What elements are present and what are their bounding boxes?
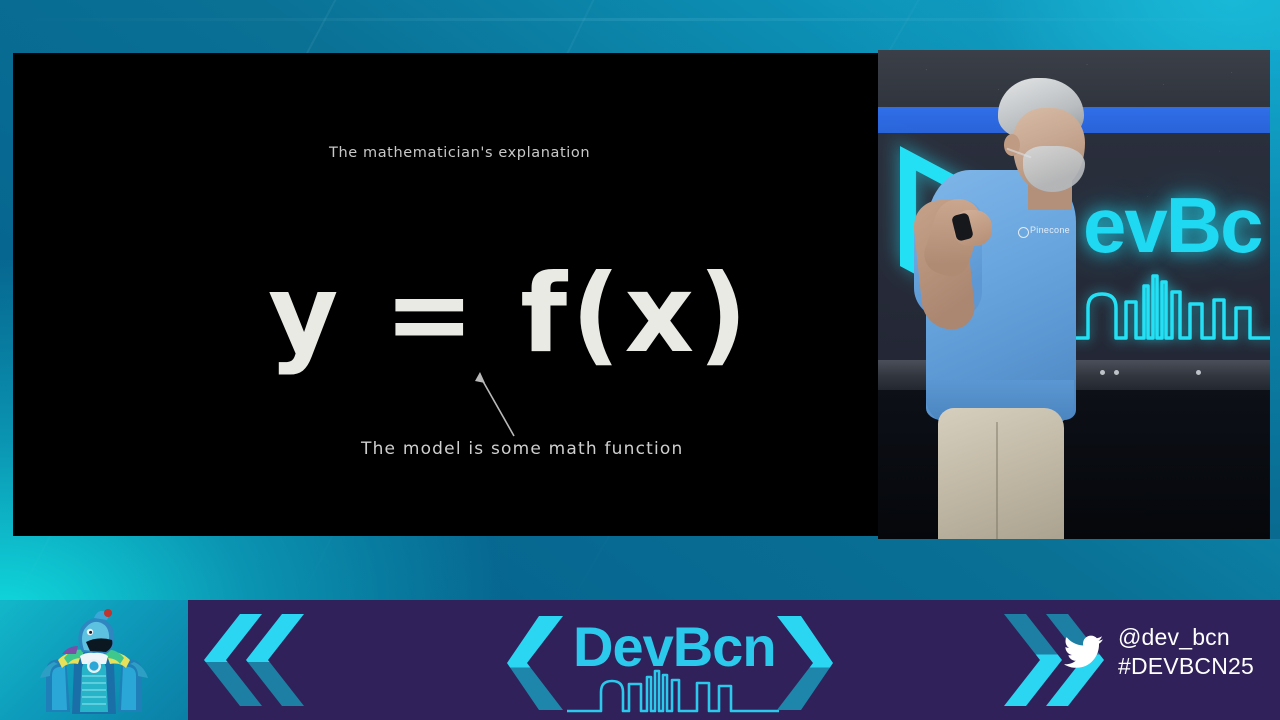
devbcn-waveform-icon	[567, 668, 779, 714]
slide-formula: y = f(x)	[268, 261, 751, 369]
presentation-screenshot: The mathematician's explanation y = f(x)…	[0, 0, 1280, 720]
rail-bolt	[1114, 370, 1119, 375]
stage-backdrop-waveform-icon	[1074, 268, 1280, 344]
shirt-brand-label: Pinecone	[1030, 225, 1070, 235]
annotation-arrow-icon	[468, 368, 528, 440]
slide-title: The mathematician's explanation	[329, 145, 590, 161]
stage-backdrop-logo-text: evBc	[1083, 180, 1261, 271]
twitter-bird-icon[interactable]	[1064, 635, 1104, 669]
devbcn-logo: DevBcn	[505, 608, 835, 716]
background-streak	[0, 18, 1280, 21]
right-angle-bracket-icon	[773, 614, 835, 712]
video-frame-edge	[1270, 50, 1280, 539]
left-angle-bracket-icon	[505, 614, 567, 712]
social-info: @dev_bcn #DEVBCN25	[1064, 624, 1254, 680]
mascot-panel	[0, 600, 188, 720]
rail-bolt	[1100, 370, 1105, 375]
social-handle[interactable]: @dev_bcn	[1118, 624, 1254, 651]
social-hashtag[interactable]: #DEVBCN25	[1118, 653, 1254, 680]
rail-bolt	[1196, 370, 1201, 375]
double-chevron-left-icon	[196, 600, 308, 720]
speaker-video-feed: evBc Pinecone	[878, 50, 1280, 539]
speaker-pants-seam	[996, 422, 998, 539]
event-banner: DevBcn	[0, 600, 1280, 720]
shirt-brand-mark-icon	[1018, 227, 1029, 238]
speaker-pants	[938, 408, 1064, 539]
devbcn-mascot-icon	[28, 606, 160, 718]
slide-caption: The model is some math function	[361, 439, 684, 459]
presentation-slide: The mathematician's explanation y = f(x)…	[13, 53, 878, 536]
